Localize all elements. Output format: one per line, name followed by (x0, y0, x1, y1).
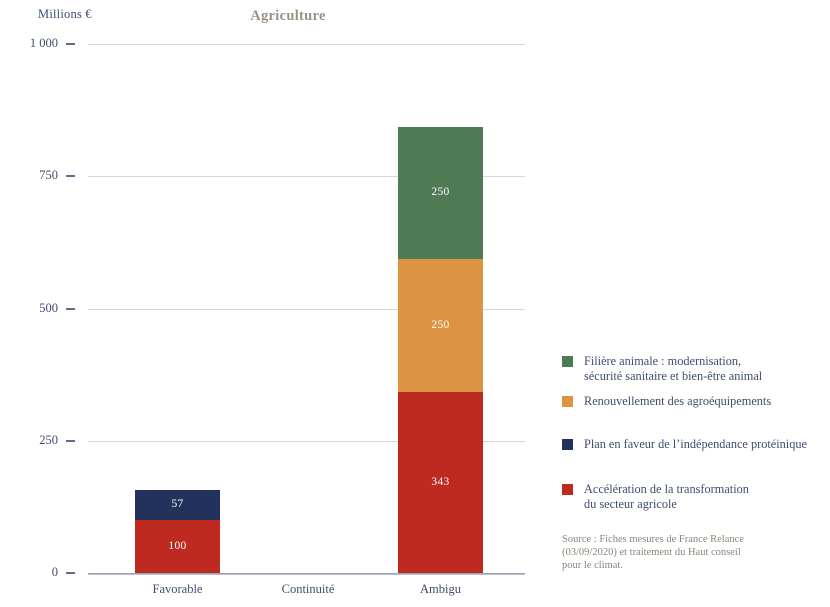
legend-item[interactable]: Accélération de la transformation du sec… (562, 482, 749, 512)
plot-area: 10057343250250 (88, 44, 525, 573)
y-axis-tick-mark (66, 43, 75, 45)
legend-color-swatch (562, 484, 573, 495)
y-axis-tick-label: 0 (0, 565, 58, 580)
legend-item[interactable]: Plan en faveur de l’indépendance protéin… (562, 437, 807, 452)
x-axis-category-label: Continuité (238, 582, 378, 597)
legend-item[interactable]: Renouvellement des agroéquipements (562, 394, 771, 409)
bar-segment[interactable]: 100 (135, 520, 220, 573)
x-axis-category-label: Favorable (108, 582, 248, 597)
legend-label: Plan en faveur de l’indépendance protéin… (584, 437, 807, 452)
x-axis-category-label: Ambigu (371, 582, 511, 597)
legend-label: Filière animale : modernisation, sécurit… (584, 354, 762, 384)
bar-value-label: 250 (431, 320, 449, 332)
y-axis-tick-label: 250 (0, 433, 58, 448)
bar-value-label: 250 (431, 187, 449, 199)
legend-color-swatch (562, 396, 573, 407)
y-axis-tick-label: 1 000 (0, 36, 58, 51)
y-axis-tick-mark (66, 175, 75, 177)
legend-color-swatch (562, 356, 573, 367)
bar-value-label: 57 (171, 499, 183, 511)
legend-label: Renouvellement des agroéquipements (584, 394, 771, 409)
legend-label: Accélération de la transformation du sec… (584, 482, 749, 512)
bar-stack[interactable]: 343250250 (398, 44, 483, 573)
y-axis-tick-mark (66, 308, 75, 310)
y-axis-tick-mark (66, 440, 75, 442)
bar-segment[interactable]: 250 (398, 259, 483, 391)
y-axis-tick-mark (66, 572, 75, 574)
y-axis-tick-label: 750 (0, 168, 58, 183)
chart-title: Agriculture (188, 8, 388, 25)
legend-item[interactable]: Filière animale : modernisation, sécurit… (562, 354, 762, 384)
bar-segment[interactable]: 343 (398, 392, 483, 573)
y-axis-tick-label: 500 (0, 301, 58, 316)
bar-stack[interactable]: 10057 (135, 44, 220, 573)
y-axis-unit-label: Millions € (38, 7, 92, 22)
source-note: Source : Fiches mesures de France Relanc… (562, 533, 812, 572)
bar-segment[interactable]: 57 (135, 490, 220, 520)
bar-stack[interactable] (266, 44, 351, 573)
bar-value-label: 343 (431, 477, 449, 489)
bar-value-label: 100 (168, 541, 186, 553)
bar-segment[interactable]: 250 (398, 127, 483, 259)
legend-color-swatch (562, 439, 573, 450)
x-axis-baseline (88, 573, 525, 574)
